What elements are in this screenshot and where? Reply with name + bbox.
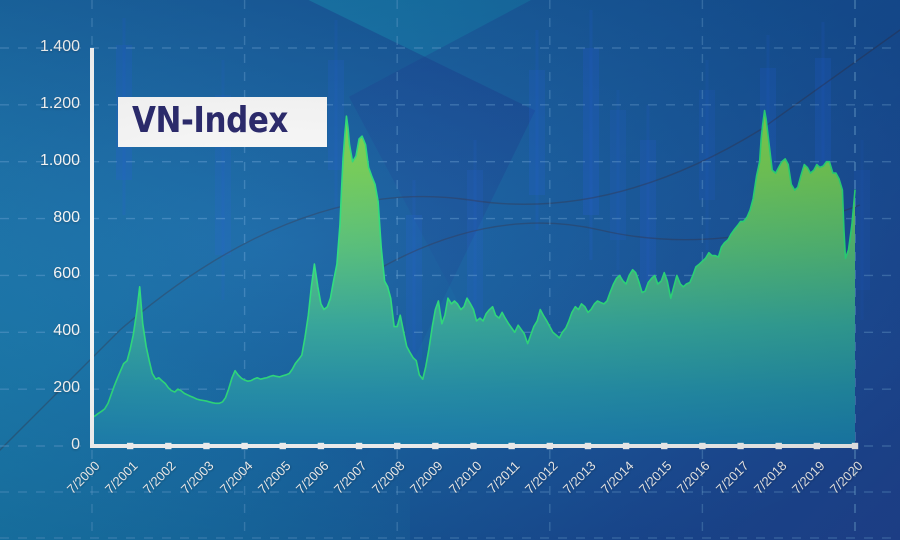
y-axis-tick-label: 600	[10, 265, 80, 283]
y-axis-tick-label: 1.400	[10, 38, 80, 56]
y-axis-tick-label: 200	[10, 379, 80, 397]
page-title: VN-Index	[132, 103, 288, 139]
y-axis-tick-label: 800	[10, 209, 80, 227]
y-axis-tick-label: 1.000	[10, 152, 80, 170]
chart-title-box: VN-Index	[118, 97, 327, 147]
y-axis-tick-label: 0	[10, 436, 80, 454]
chart-screenshot: 02004006008001.0001.2001.400 7/20007/200…	[0, 0, 900, 540]
y-axis-tick-label: 1.200	[10, 95, 80, 113]
chart-axes	[0, 0, 900, 540]
y-axis-tick-label: 400	[10, 322, 80, 340]
